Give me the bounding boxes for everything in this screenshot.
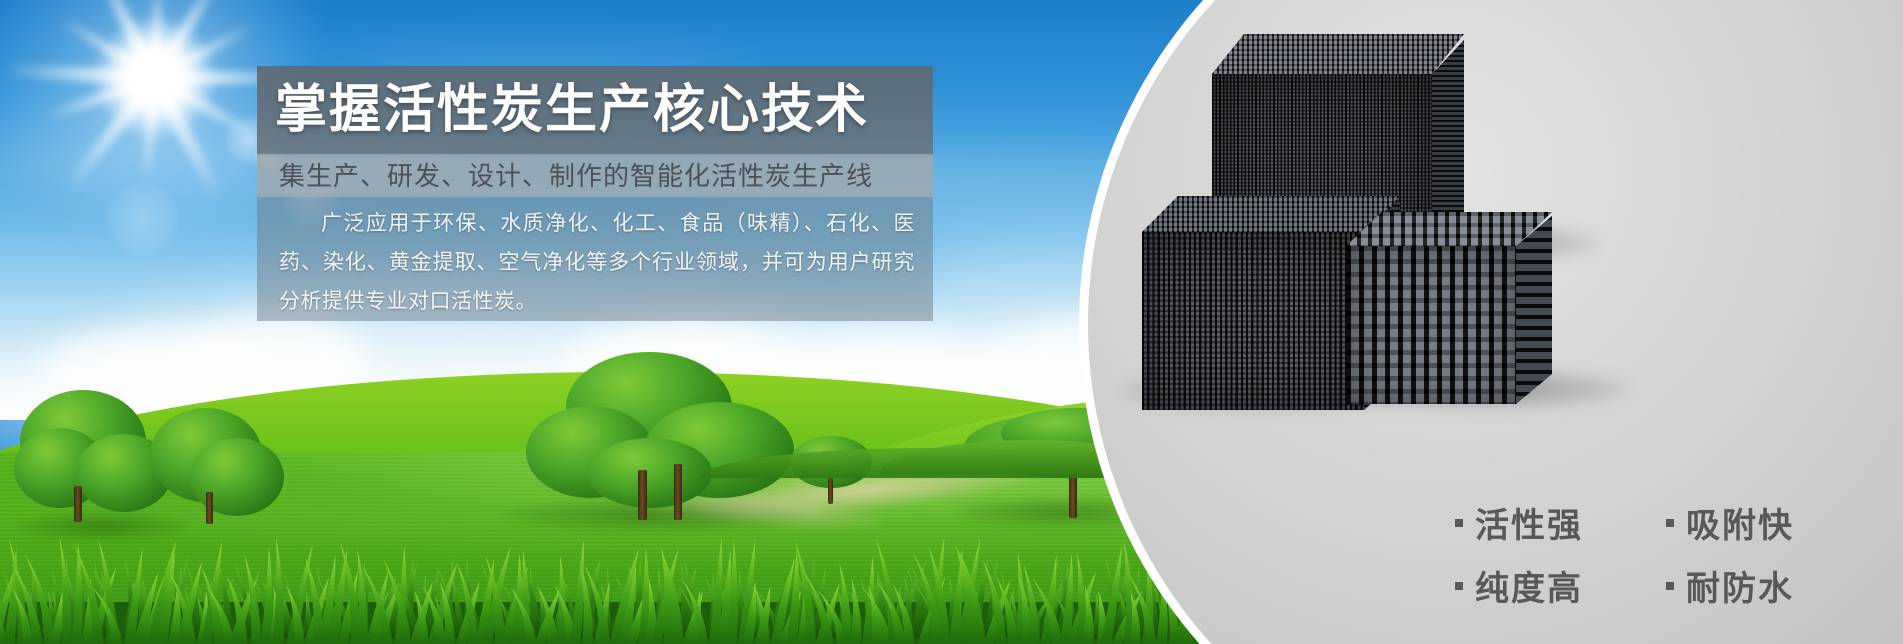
lens-flare-dot: [108, 184, 178, 254]
feature-item: 耐防水: [1666, 561, 1855, 610]
feature-label: 活性强: [1475, 498, 1583, 547]
page-title: 掌握活性炭生产核心技术: [275, 76, 915, 144]
block-top-face: [1142, 196, 1400, 232]
feature-label: 吸附快: [1686, 498, 1794, 547]
page-subtitle: 集生产、研发、设计、制作的智能化活性炭生产线: [279, 158, 919, 194]
block-side-face: [1516, 216, 1552, 406]
block-front-face: [1346, 246, 1516, 404]
tree-trunk: [828, 478, 833, 504]
feature-label: 纯度高: [1475, 561, 1583, 610]
bullet-icon: [1455, 519, 1463, 527]
feature-item: 纯度高: [1455, 561, 1644, 610]
block-top-face: [1346, 212, 1552, 246]
tree-trunk: [206, 492, 213, 524]
bullet-icon: [1455, 582, 1463, 590]
bullet-icon: [1666, 582, 1674, 590]
feature-item: 吸附快: [1666, 498, 1855, 547]
page-description: 广泛应用于环保、水质净化、化工、食品（味精）、石化、医药、染化、黄金提取、空气净…: [279, 204, 915, 321]
block-top-face: [1212, 34, 1464, 74]
tree-canopy: [190, 438, 284, 516]
feature-list: 活性强 吸附快 纯度高 耐防水: [1455, 498, 1855, 610]
headline-panel: 掌握活性炭生产核心技术 集生产、研发、设计、制作的智能化活性炭生产线 广泛应用于…: [257, 66, 933, 321]
tree-trunk: [674, 464, 682, 520]
block-front-face: [1142, 232, 1364, 410]
feature-item: 活性强: [1455, 498, 1644, 547]
tree-trunk: [638, 470, 647, 520]
bullet-icon: [1666, 519, 1674, 527]
tree-canopy: [588, 438, 712, 508]
tree-trunk: [74, 486, 82, 522]
feature-label: 耐防水: [1686, 561, 1794, 610]
promo-banner: 掌握活性炭生产核心技术 集生产、研发、设计、制作的智能化活性炭生产线 广泛应用于…: [0, 0, 1903, 644]
